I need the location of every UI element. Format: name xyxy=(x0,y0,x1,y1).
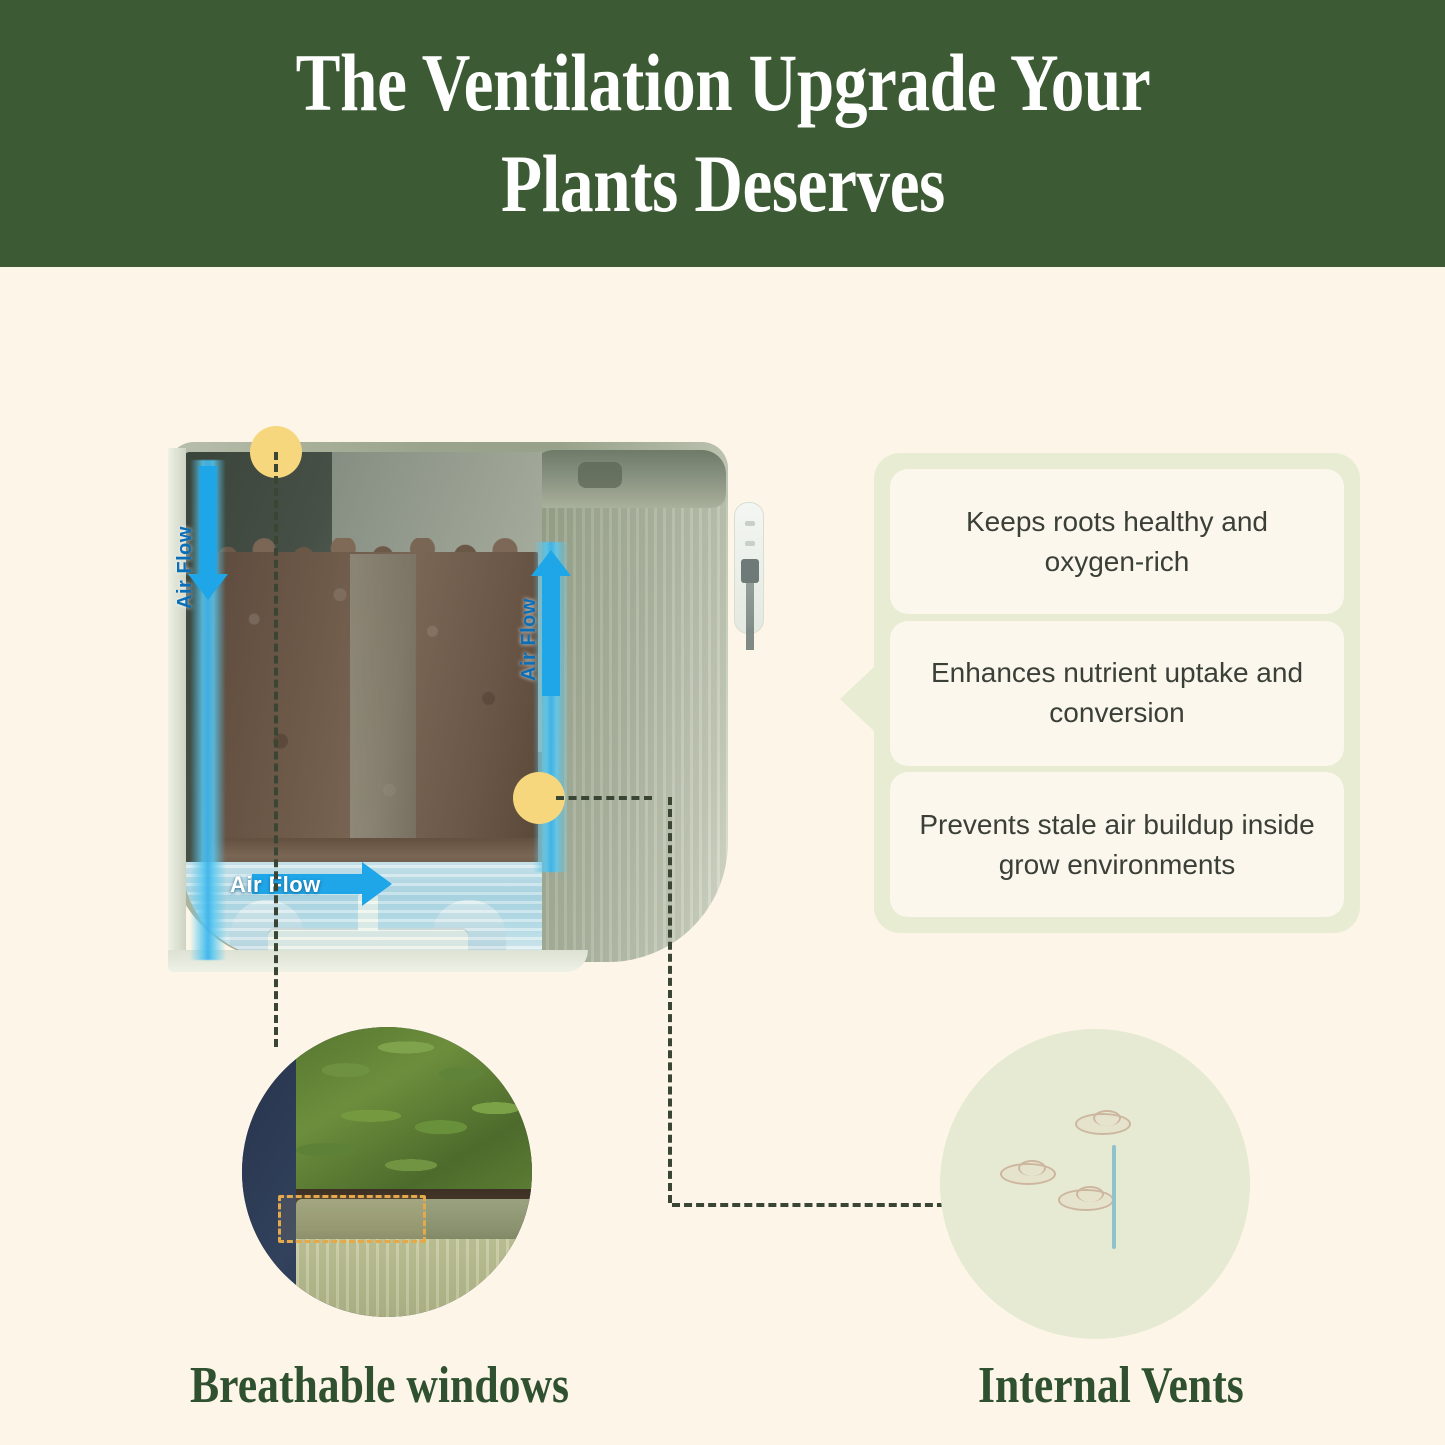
connector-segment-vents-1 xyxy=(556,796,652,800)
benefits-panel: Keeps roots healthy and oxygen-rich Enha… xyxy=(874,453,1360,933)
benefit-card-2: Enhances nutrient uptake and conversion xyxy=(890,621,1344,766)
reservoir-column-right xyxy=(432,900,506,956)
photo-pot-body xyxy=(296,1239,532,1317)
vent-hole-icon xyxy=(1000,1163,1056,1185)
connector-line-breathable-windows xyxy=(274,452,278,1047)
gauge-tick xyxy=(745,521,755,526)
airflow-right-label: Air Flow xyxy=(518,598,541,681)
header-banner: The Ventilation Upgrade Your Plants Dese… xyxy=(0,0,1445,267)
benefit-card-2-text: Enhances nutrient uptake and conversion xyxy=(916,653,1318,733)
benefit-card-1-text: Keeps roots healthy and oxygen-rich xyxy=(916,502,1318,582)
gauge-tick xyxy=(745,541,755,546)
internal-vents-photo xyxy=(940,1029,1250,1339)
airflow-right-arrow-stem xyxy=(542,576,560,696)
gauge-float xyxy=(741,559,759,583)
connector-segment-vents-3 xyxy=(672,1203,957,1207)
breathable-window-highlight-box xyxy=(278,1195,426,1243)
benefit-card-3-text: Prevents stale air buildup inside grow e… xyxy=(916,805,1318,885)
main-content: Air Flow Air Flow Air Flow Keeps roots h… xyxy=(0,267,1445,1445)
airflow-left-label: Air Flow xyxy=(174,526,197,609)
airflow-bottom-arrow-head xyxy=(362,862,392,906)
caption-internal-vents: Internal Vents xyxy=(978,1356,1244,1415)
photo-rosemary-foliage xyxy=(296,1027,532,1207)
benefit-card-1: Keeps roots healthy and oxygen-rich xyxy=(890,469,1344,614)
vent-hole-icon xyxy=(1058,1189,1114,1211)
vent-divider-line xyxy=(1112,1145,1116,1249)
page-title: The Ventilation Upgrade Your Plants Dese… xyxy=(194,33,1252,233)
panel-pointer-notch xyxy=(840,665,876,733)
connector-segment-vents-2 xyxy=(668,797,672,1203)
water-level-gauge-icon xyxy=(734,502,764,634)
gauge-stem xyxy=(746,628,754,650)
inner-grow-pot xyxy=(350,554,416,846)
caption-breathable-windows: Breathable windows xyxy=(190,1356,569,1415)
airflow-left-arrow-stem xyxy=(199,466,217,576)
planter-cutaway-illustration: Air Flow Air Flow Air Flow xyxy=(168,442,728,972)
planter-top-rim xyxy=(530,450,726,508)
vent-hole-icon xyxy=(1075,1113,1131,1135)
breathable-windows-photo xyxy=(242,1027,532,1317)
reservoir-column-left xyxy=(230,900,304,956)
planter-bottom-wall xyxy=(168,950,588,972)
benefit-card-3: Prevents stale air buildup inside grow e… xyxy=(890,772,1344,917)
planter-rim-notch xyxy=(578,462,622,488)
airflow-right-arrow-head xyxy=(531,550,571,576)
